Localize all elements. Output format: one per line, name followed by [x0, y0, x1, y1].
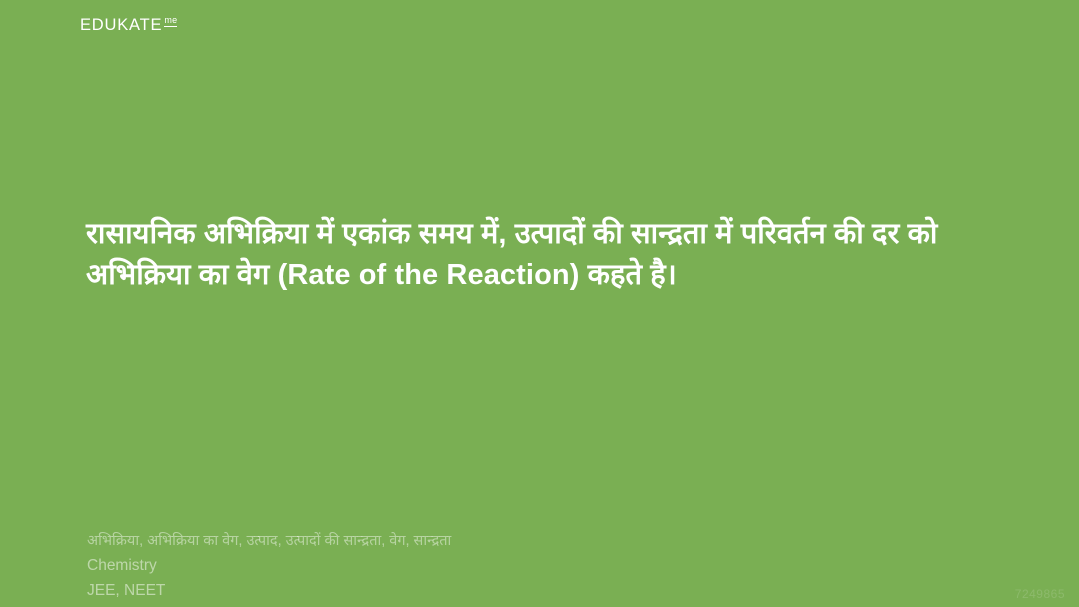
edukate-logo[interactable]: EDUKATE me [80, 15, 177, 35]
slide-id-watermark: 7249865 [1015, 587, 1065, 601]
footer-exams: JEE, NEET [87, 578, 787, 603]
brand-suffix: me [164, 16, 177, 27]
slide-canvas: EDUKATE me रासायनिक अभिक्रिया में एकांक … [0, 0, 1079, 607]
footer-keywords: अभिक्रिया, अभिक्रिया का वेग, उत्पाद, उत्… [87, 529, 787, 553]
footer-subject: Chemistry [87, 553, 787, 578]
main-statement: रासायनिक अभिक्रिया में एकांक समय में, उत… [86, 214, 981, 296]
slide-footer: अभिक्रिया, अभिक्रिया का वेग, उत्पाद, उत्… [87, 529, 787, 603]
brand-name: EDUKATE [80, 15, 162, 35]
main-statement-line-1: रासायनिक अभिक्रिया में एकांक समय में, उत… [86, 218, 864, 250]
